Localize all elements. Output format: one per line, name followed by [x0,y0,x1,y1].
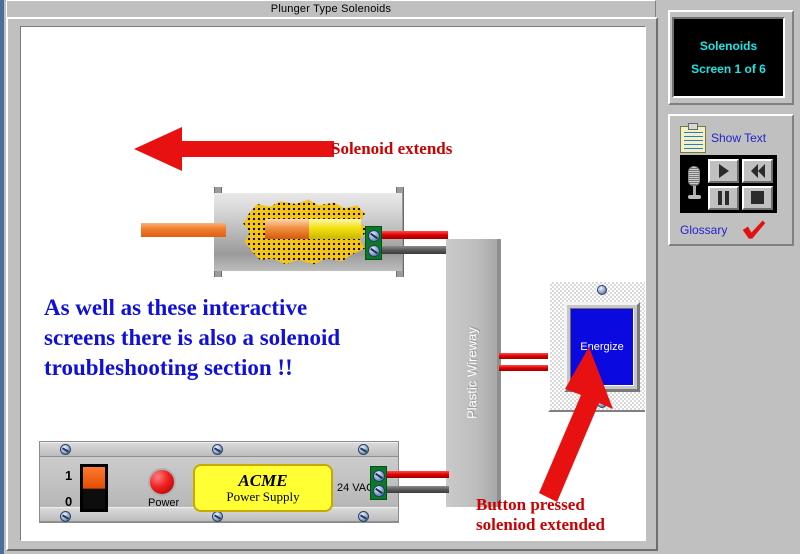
panel-screw-icon [597,285,607,295]
checkmark-icon [741,220,767,240]
application-window: Plunger Type Solenoids Solenoid extends [0,0,800,554]
power-supply-nameplate: ACME Power Supply [193,464,333,512]
switch-on-label: 1 [65,468,72,483]
power-rocker-switch[interactable] [80,464,108,512]
screen-title: Solenoids [700,39,757,53]
mic-head [688,166,700,186]
window-edge-strip [0,0,4,554]
terminal-screw-icon [368,230,380,242]
terminal-screw-icon [373,485,385,497]
clipboard-clip [688,123,698,130]
play-button[interactable] [708,159,739,183]
solenoid-plunger-rod [141,223,226,237]
button-pressed-arrow-icon [517,347,627,507]
mic-base [688,195,701,199]
window-titlebar: Plunger Type Solenoids [6,0,656,18]
switch-off-label: 0 [65,494,72,509]
microphone-icon [684,166,704,202]
chassis-screw-icon [358,444,369,455]
rewind-button[interactable] [742,159,773,183]
stop-icon [751,191,764,204]
screen-status-display: Solenoids Screen 1 of 6 [672,17,785,98]
glossary-control[interactable]: Glossary [680,220,767,240]
terminal-screw-icon [368,245,380,257]
core-plunger-segment [265,219,309,239]
terminal-screw-icon [373,470,385,482]
clipboard-pad [680,126,706,153]
power-wire-red [387,471,449,478]
chassis-screw-icon [212,511,223,522]
plastic-wireway: Plastic Wireway [446,239,501,507]
rewind-icon [751,164,765,178]
annotation-solenoid-extends: Solenoid extends [331,139,452,159]
annotation-interactive-note: As well as these interactive screens the… [44,293,340,383]
power-led-group: Power [148,468,179,509]
solenoid-core [265,219,361,239]
pause-icon [718,191,729,205]
solenoid-terminal-block [365,226,382,260]
media-control-panel [680,155,777,213]
power-supply-unit: 1 0 Power ACME Power Supply 24 VAC [39,441,399,523]
wireway-label: Plastic Wireway [464,327,479,419]
rocker-lower-half [83,489,105,509]
show-text-control[interactable]: Show Text [680,123,766,153]
rocker-upper-half [83,467,105,489]
chassis-screw-icon [358,511,369,522]
glossary-label: Glossary [680,223,727,237]
mic-stem [693,186,696,195]
stop-button[interactable] [742,186,773,210]
brand-subtitle: Power Supply [226,490,299,505]
voltage-label: 24 VAC [337,482,374,494]
power-led-indicator [148,468,176,496]
pause-button[interactable] [708,186,739,210]
power-wire-gray [387,486,449,493]
canvas-frame: Solenoid extends As well as these intera… [6,17,658,551]
solenoid-wire-gray [382,246,448,254]
diagram-canvas: Solenoid extends As well as these intera… [20,26,646,541]
brand-name: ACME [238,471,287,491]
chassis-screw-icon [212,444,223,455]
clipboard-icon [680,123,706,153]
play-icon [719,164,729,178]
chassis-screw-icon [60,511,71,522]
power-supply-terminal-block [370,466,387,500]
annotation-button-pressed: Button pressed soleniod extended [476,495,605,535]
solenoid-extends-arrow-icon [134,125,334,173]
window-title: Plunger Type Solenoids [271,3,391,15]
right-sidebar: Solenoids Screen 1 of 6 Show Text [662,0,800,554]
screen-counter: Screen 1 of 6 [691,62,766,76]
solenoid-wire-red [382,231,448,239]
show-text-label: Show Text [711,131,766,145]
transport-buttons [708,159,773,210]
power-led-label: Power [148,497,179,509]
chassis-screw-icon [60,444,71,455]
core-fixed-segment [309,219,361,239]
